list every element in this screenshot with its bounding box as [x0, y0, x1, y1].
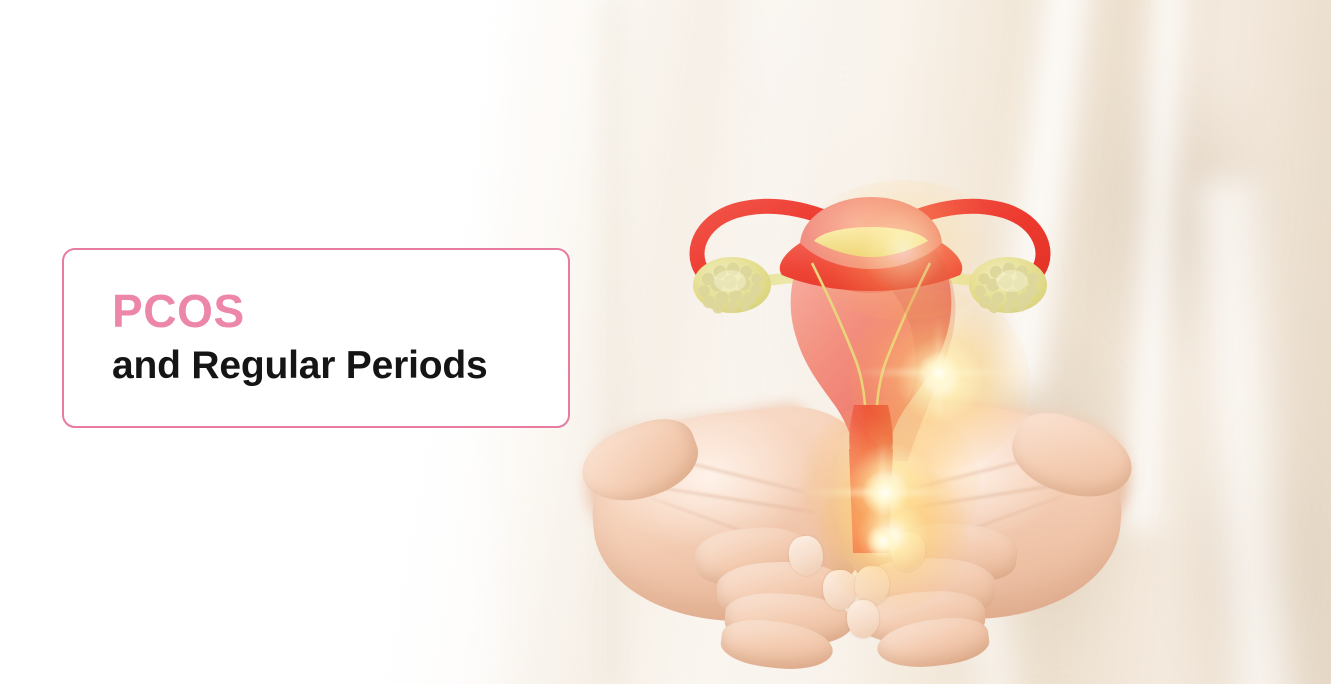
page-title: PCOS	[112, 287, 568, 336]
uterus-illustration	[660, 175, 1080, 505]
pcos-banner: PCOS and Regular Periods	[0, 0, 1331, 684]
page-subtitle: and Regular Periods	[112, 343, 568, 389]
flare-core	[866, 524, 900, 558]
cervix	[849, 405, 893, 451]
flare-core	[918, 352, 960, 394]
title-card: PCOS and Regular Periods	[62, 248, 570, 428]
ovary-left	[693, 257, 771, 314]
flare-core	[862, 470, 908, 516]
ovary-right	[969, 257, 1047, 313]
